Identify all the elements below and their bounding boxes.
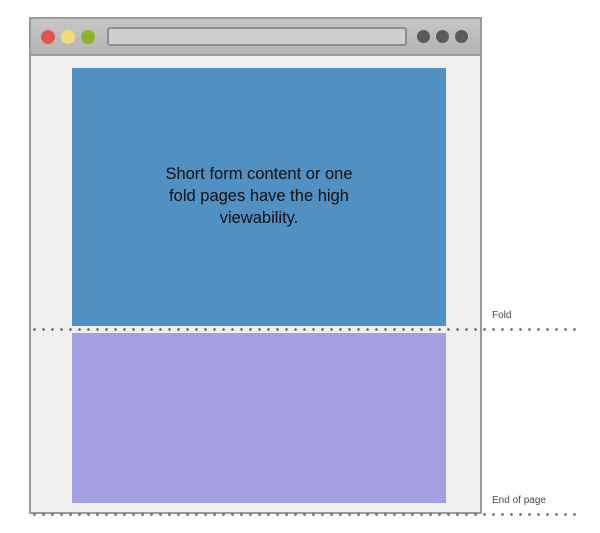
- minimize-window-button[interactable]: [61, 30, 75, 44]
- above-fold-content-block: Short form content or one fold pages hav…: [72, 68, 446, 326]
- fold-dotted-line: [30, 328, 581, 331]
- window-controls: [41, 30, 95, 44]
- fold-label: Fold: [492, 310, 511, 321]
- maximize-window-button[interactable]: [81, 30, 95, 44]
- menu-dot-icon-2[interactable]: [436, 30, 449, 43]
- above-fold-text: Short form content or one fold pages hav…: [137, 164, 382, 230]
- below-fold-content-block: [72, 333, 446, 503]
- browser-title-bar: [31, 19, 480, 56]
- end-of-page-dotted-line: [30, 513, 581, 516]
- url-input[interactable]: [107, 27, 407, 46]
- close-window-button[interactable]: [41, 30, 55, 44]
- end-of-page-label: End of page: [492, 495, 546, 506]
- browser-menu-dots: [417, 30, 468, 43]
- browser-window: Short form content or one fold pages hav…: [29, 17, 482, 514]
- page-viewport: Short form content or one fold pages hav…: [31, 56, 480, 510]
- menu-dot-icon-3[interactable]: [455, 30, 468, 43]
- menu-dot-icon-1[interactable]: [417, 30, 430, 43]
